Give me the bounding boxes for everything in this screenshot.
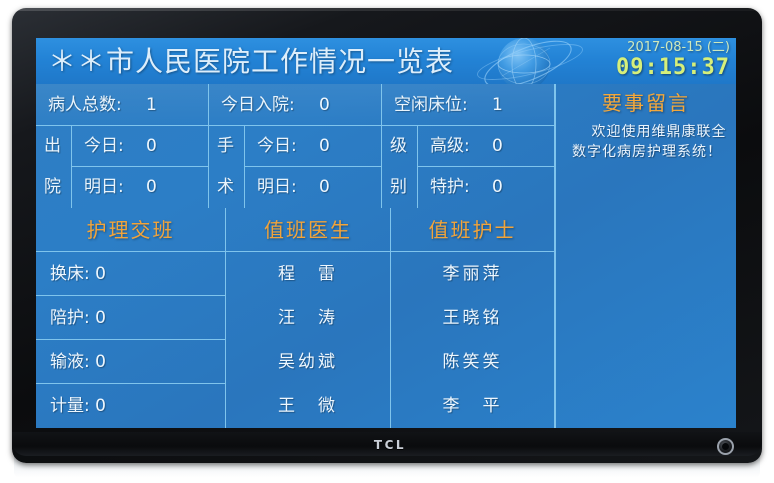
stat-value: 0 — [319, 84, 330, 126]
stat-label: 病人总数: — [48, 84, 122, 126]
duty-column-handover: 护理交班 换床: 0 陪护: 0 输液: 0 计量: 0 — [36, 208, 226, 428]
duty-cell: 李 平 — [391, 384, 554, 428]
stat-cell-total-patients: 病人总数: 1 — [36, 84, 209, 126]
side-char: 手 — [217, 126, 234, 167]
duty-cell: 计量: 0 — [36, 384, 225, 428]
stat-cell-surgery-tomorrow: 明日: 0 — [245, 167, 382, 208]
duty-column-header: 值班护士 — [391, 208, 554, 252]
stat-value: 0 — [319, 126, 330, 167]
title-bar: ＊＊市人民医院工作情况一览表 2017-08-15 (二) 09:15:37 — [36, 38, 736, 84]
stat-value: 0 — [492, 167, 503, 208]
stat-cell-free-beds: 空闲床位: 1 — [382, 84, 555, 126]
stat-value: 1 — [492, 84, 503, 126]
stat-label: 明日: — [84, 167, 124, 208]
duty-column-doctors: 值班医生 程 雷 汪 涛 吴幼斌 王 微 — [226, 208, 391, 428]
duty-cell: 输液: 0 — [36, 340, 225, 384]
side-char: 级 — [390, 126, 407, 167]
body-area: 病人总数: 1 出 院 今日: 0 明日: 0 今日 — [36, 84, 736, 428]
display-screen: ＊＊市人民医院工作情况一览表 2017-08-15 (二) 09:15:37 病… — [36, 38, 736, 428]
clock-block: 2017-08-15 (二) 09:15:37 — [598, 40, 730, 80]
stat-cell-level-senior: 高级: 0 — [418, 126, 555, 167]
stat-label: 特护: — [430, 167, 470, 208]
duty-cell: 吴幼斌 — [226, 340, 390, 384]
side-char: 院 — [44, 167, 61, 208]
duty-cell: 王晓铭 — [391, 296, 554, 340]
stat-cell-admissions-today: 今日入院: 0 — [209, 84, 382, 126]
stat-label: 高级: — [430, 126, 470, 167]
stat-value: 0 — [492, 126, 503, 167]
stat-value: 1 — [146, 84, 157, 126]
stat-label: 今日: — [84, 126, 124, 167]
stat-group-surgery: 今日入院: 0 手 术 今日: 0 明日: 0 — [209, 84, 382, 208]
stat-side-label-discharge: 出 院 — [36, 126, 72, 208]
stat-cell-surgery-today: 今日: 0 — [245, 126, 382, 167]
side-char: 出 — [44, 126, 61, 167]
duty-column-nurses: 值班护士 李丽萍 王晓铭 陈笑笑 李 平 — [391, 208, 555, 428]
duty-column-header: 值班医生 — [226, 208, 390, 252]
stat-group-admissions-total: 病人总数: 1 出 院 今日: 0 明日: 0 — [36, 84, 209, 208]
page-title: ＊＊市人民医院工作情况一览表 — [48, 40, 454, 84]
stat-value: 0 — [319, 167, 330, 208]
duty-cell: 陈笑笑 — [391, 340, 554, 384]
side-char: 别 — [390, 167, 407, 208]
duty-column-header: 护理交班 — [36, 208, 225, 252]
duty-cell: 王 微 — [226, 384, 390, 428]
stat-label: 今日入院: — [221, 84, 295, 126]
stat-group-care-level: 空闲床位: 1 级 别 高级: 0 特护: 0 — [382, 84, 555, 208]
power-indicator-icon — [717, 438, 734, 455]
duty-cell: 陪护: 0 — [36, 296, 225, 340]
stats-grid: 病人总数: 1 出 院 今日: 0 明日: 0 今日 — [36, 84, 555, 208]
stat-label: 今日: — [257, 126, 297, 167]
stat-cell-discharge-today: 今日: 0 — [72, 126, 209, 167]
stat-side-label-surgery: 手 术 — [209, 126, 245, 208]
stat-label: 明日: — [257, 167, 297, 208]
notice-title: 要事留言 — [556, 88, 736, 118]
side-char: 术 — [217, 167, 234, 208]
duty-cell: 李丽萍 — [391, 252, 554, 296]
clock-date: 2017-08-15 (二) — [598, 40, 730, 56]
duty-cell: 换床: 0 — [36, 252, 225, 296]
stat-side-label-level: 级 别 — [382, 126, 418, 208]
stat-cell-level-special: 特护: 0 — [418, 167, 555, 208]
duty-cell: 程 雷 — [226, 252, 390, 296]
clock-time: 09:15:37 — [598, 56, 730, 80]
brand-logo: TCL — [355, 437, 425, 453]
notice-message: 欢迎使用维鼎康联全数字化病房护理系统！ — [562, 122, 732, 162]
stat-label: 空闲床位: — [394, 84, 468, 126]
duty-cell: 汪 涛 — [226, 296, 390, 340]
duty-table: 护理交班 换床: 0 陪护: 0 输液: 0 计量: 0 值班医生 程 雷 汪 … — [36, 208, 555, 428]
notice-sidebar: 要事留言 欢迎使用维鼎康联全数字化病房护理系统！ — [556, 84, 736, 428]
stat-value: 0 — [146, 126, 157, 167]
stat-cell-discharge-tomorrow: 明日: 0 — [72, 167, 209, 208]
stat-value: 0 — [146, 167, 157, 208]
